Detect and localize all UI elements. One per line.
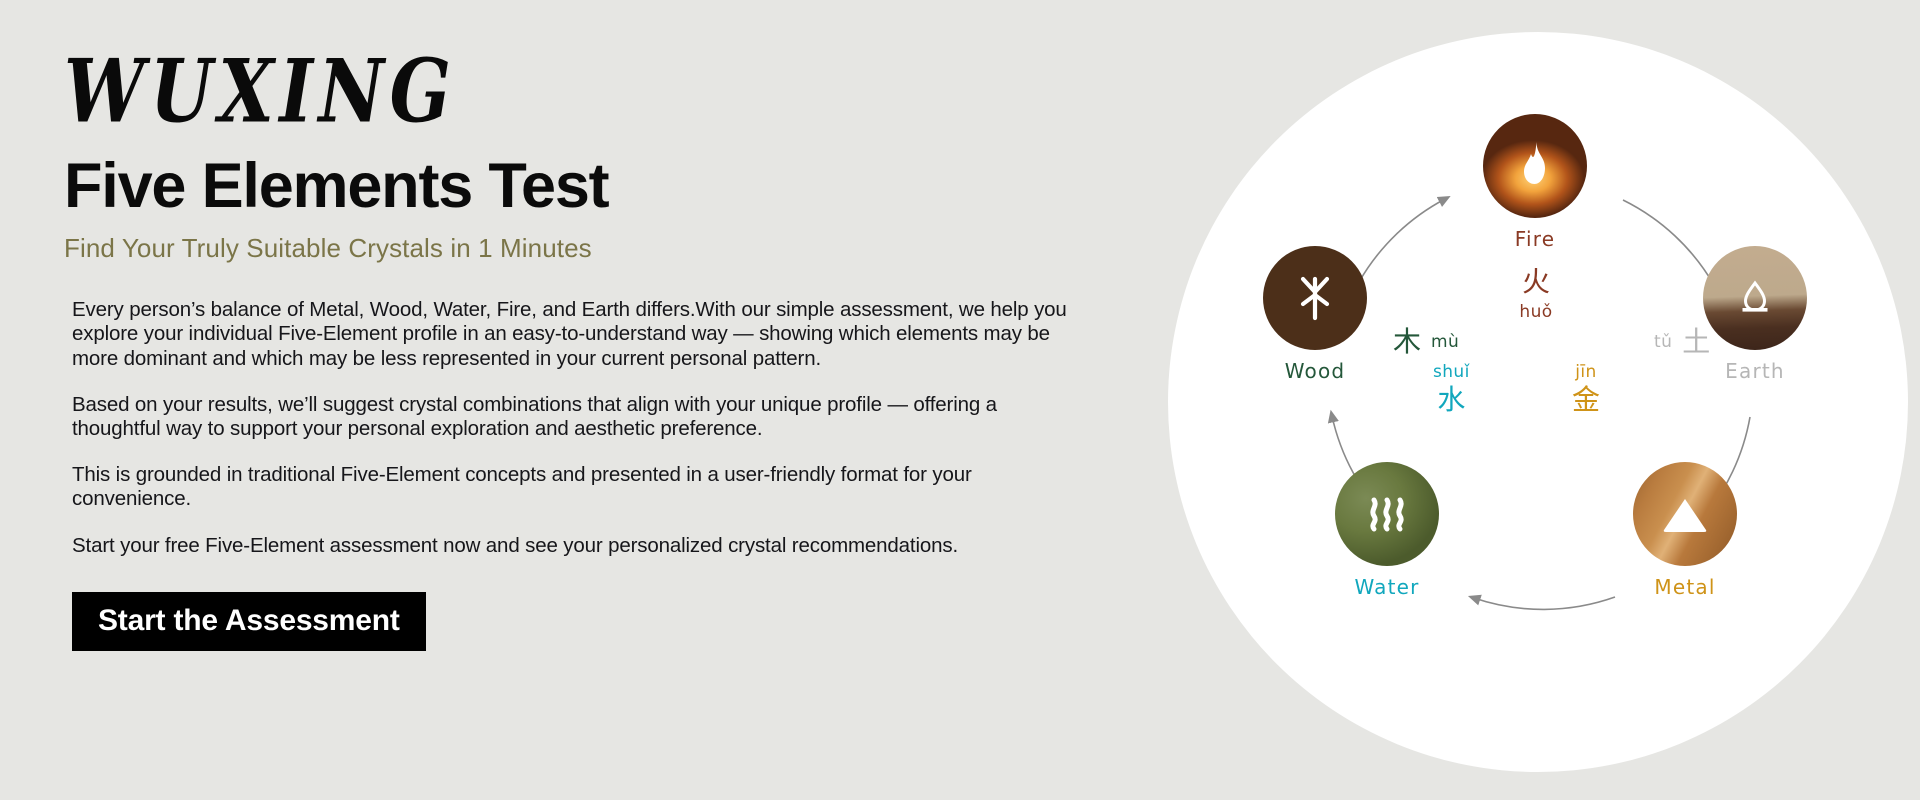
body-paragraph: Based on your results, we’ll suggest cry… [72, 393, 1074, 441]
fire-pinyin: huǒ [1456, 302, 1616, 322]
flame-icon [1483, 114, 1587, 218]
wood-image-disc [1263, 246, 1367, 350]
brand-wordmark: WUXING [64, 52, 1067, 132]
page-subtitle: Find Your Truly Suitable Crystals in 1 M… [64, 233, 1154, 264]
earth-mark: tǔ 土 [1654, 328, 1710, 356]
element-node-water[interactable]: Water [1277, 462, 1497, 599]
metal-mark: jīn 金 [1572, 362, 1600, 414]
water-pinyin: shuǐ [1433, 362, 1470, 382]
start-assessment-button[interactable]: Start the Assessment [72, 592, 426, 652]
body-paragraph: This is grounded in traditional Five-Ele… [72, 463, 1074, 511]
wood-mark: 木 mù [1393, 328, 1459, 356]
water-hanzi: 水 [1437, 386, 1465, 414]
fire-image-disc [1483, 114, 1587, 218]
element-label-earth: Earth [1645, 359, 1865, 383]
body-copy: Every person’s balance of Metal, Wood, W… [72, 298, 1082, 558]
element-node-earth[interactable]: Earth [1645, 246, 1865, 383]
metal-pinyin: jīn [1575, 362, 1596, 382]
element-label-wood: Wood [1205, 359, 1425, 383]
element-node-wood[interactable]: Wood [1205, 246, 1425, 383]
metal-hanzi: 金 [1572, 386, 1600, 414]
cta-container: Start the Assessment [72, 592, 1154, 652]
hero-page: WUXING Five Elements Test Find Your Trul… [0, 0, 1920, 800]
metal-image-disc [1633, 462, 1737, 566]
water-mark: shuǐ 水 [1433, 362, 1470, 414]
body-paragraph: Every person’s balance of Metal, Wood, W… [72, 298, 1074, 371]
element-label-water: Water [1277, 575, 1497, 599]
page-title: Five Elements Test [64, 154, 1154, 220]
element-node-fire[interactable]: Fire [1425, 114, 1645, 251]
body-paragraph: Start your free Five-Element assessment … [72, 534, 1074, 558]
fire-mark: 火 huǒ [1456, 267, 1616, 322]
fire-hanzi: 火 [1456, 267, 1616, 296]
hero-copy-column: WUXING Five Elements Test Find Your Trul… [64, 52, 1154, 651]
element-label-metal: Metal [1575, 575, 1795, 599]
wood-pinyin: mù [1431, 332, 1459, 352]
water-image-disc [1335, 462, 1439, 566]
earth-image-disc [1703, 246, 1807, 350]
seed-on-ground-icon [1703, 246, 1807, 350]
wood-hanzi: 木 [1393, 328, 1421, 356]
element-label-fire: Fire [1425, 227, 1645, 251]
waves-icon [1335, 462, 1439, 566]
earth-hanzi: 土 [1682, 328, 1710, 356]
triangle-icon [1633, 462, 1737, 566]
element-node-metal[interactable]: Metal [1575, 462, 1795, 599]
five-elements-diagram: Fire 火 huǒ Earth tǔ 土 [1168, 32, 1908, 772]
earth-pinyin: tǔ [1654, 332, 1672, 352]
tree-rune-icon [1263, 246, 1367, 350]
